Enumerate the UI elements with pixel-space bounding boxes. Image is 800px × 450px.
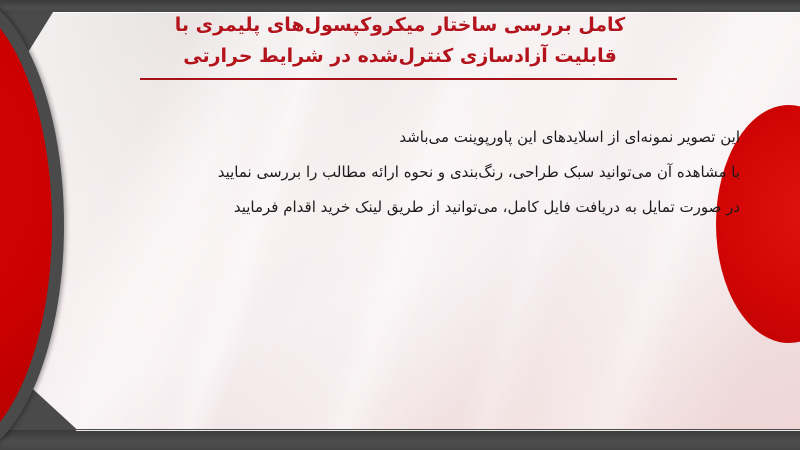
slide-body-text: این تصویر نمونه‌ای از اسلایدهای این پاور… (0, 120, 800, 225)
presentation-slide: کامل بررسی ساختار میکروکپسول‌های پلیمری … (0, 0, 800, 450)
title-line-2: قابلیت آزادسازی کنترل‌شده در شرایط حرارت… (40, 41, 760, 72)
body-line-2: با مشاهده آن می‌توانید سبک طراحی، رنگ‌بن… (30, 155, 770, 190)
slide-frame-bottom (0, 430, 800, 450)
body-line-1: این تصویر نمونه‌ای از اسلایدهای این پاور… (30, 120, 770, 155)
slide-title: کامل بررسی ساختار میکروکپسول‌های پلیمری … (0, 10, 800, 72)
title-line-1: کامل بررسی ساختار میکروکپسول‌های پلیمری … (40, 10, 760, 41)
body-line-3: در صورت تمایل به دریافت فایل کامل، می‌تو… (30, 190, 770, 225)
title-underline-rule (140, 78, 677, 80)
